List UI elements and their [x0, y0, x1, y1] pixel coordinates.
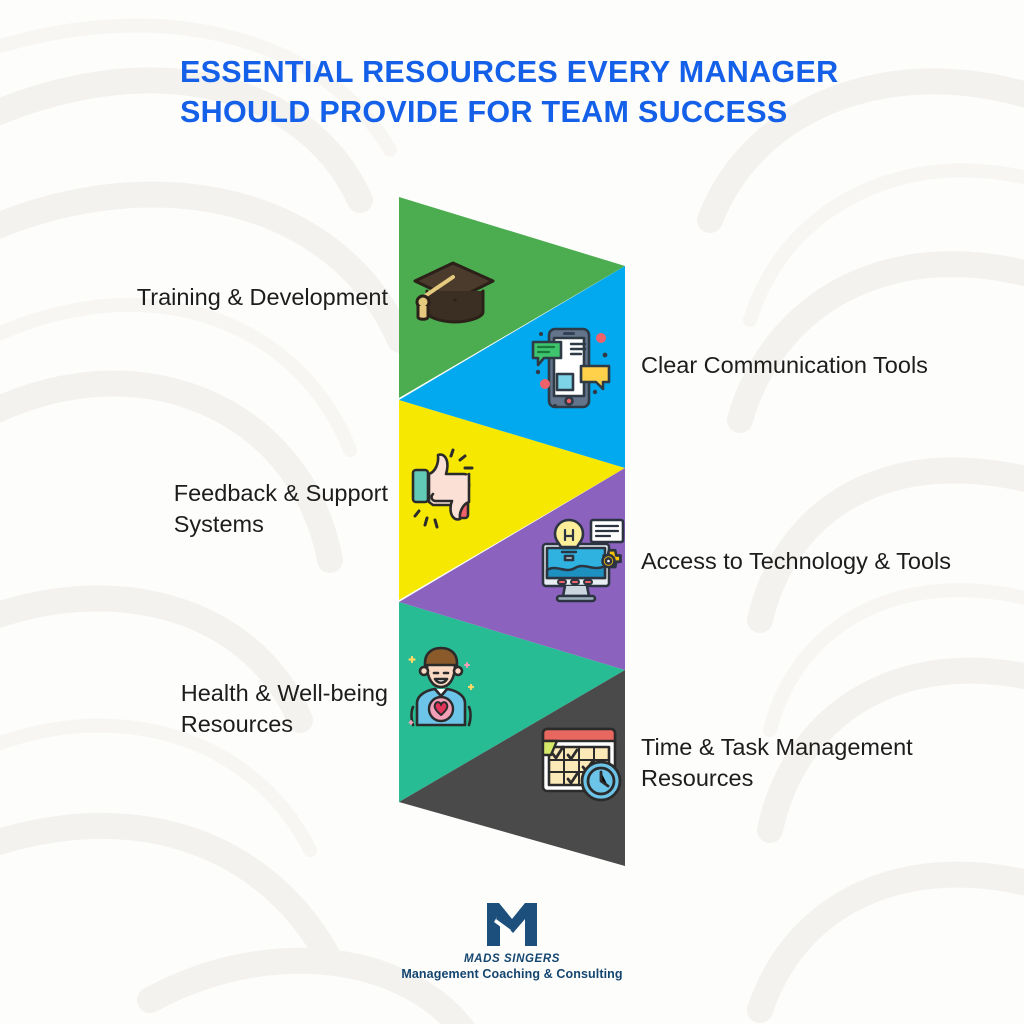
- m-monogram-icon: [483, 900, 541, 948]
- mobile-chat-icon: [525, 322, 615, 414]
- label-text-line-1: Health & Well-being: [181, 678, 388, 709]
- logo-tagline: Management Coaching & Consulting: [0, 967, 1024, 981]
- label-text-line-2: Resources: [641, 763, 913, 794]
- label-time-task-management-resources: Time & Task Management Resources: [641, 732, 913, 794]
- monitor-lightbulb-gear-icon: [533, 518, 625, 606]
- label-health-wellbeing-resources: Health & Well-being Resources: [181, 678, 388, 740]
- label-text-line-1: Time & Task Management: [641, 732, 913, 763]
- infographic-page: ESSENTIAL RESOURCES EVERY MANAGER SHOULD…: [0, 0, 1024, 1024]
- logo-brand-name: MADS SINGERS: [0, 953, 1024, 965]
- label-text: Clear Communication Tools: [641, 352, 928, 378]
- label-text: Training & Development: [137, 284, 388, 310]
- label-text-line-2: Systems: [174, 509, 388, 540]
- label-access-to-technology-tools: Access to Technology & Tools: [641, 546, 951, 577]
- page-title: ESSENTIAL RESOURCES EVERY MANAGER SHOULD…: [180, 52, 900, 132]
- label-text-line-1: Feedback & Support: [174, 478, 388, 509]
- brand-logo: MADS SINGERS Management Coaching & Consu…: [0, 900, 1024, 981]
- person-heart-icon: [405, 645, 483, 731]
- title-line-1: ESSENTIAL RESOURCES EVERY MANAGER: [180, 52, 900, 92]
- calendar-clock-icon: [537, 723, 629, 805]
- label-training-development: Training & Development: [137, 282, 388, 313]
- graduation-cap-icon: [407, 255, 499, 335]
- label-text-line-2: Resources: [181, 709, 388, 740]
- label-text: Access to Technology & Tools: [641, 548, 951, 574]
- chevron-stack: [0, 0, 1024, 1024]
- thumbs-up-down-icon: [407, 448, 497, 530]
- title-line-2: SHOULD PROVIDE FOR TEAM SUCCESS: [180, 92, 900, 132]
- label-clear-communication-tools: Clear Communication Tools: [641, 350, 928, 381]
- label-feedback-support-systems: Feedback & Support Systems: [174, 478, 388, 540]
